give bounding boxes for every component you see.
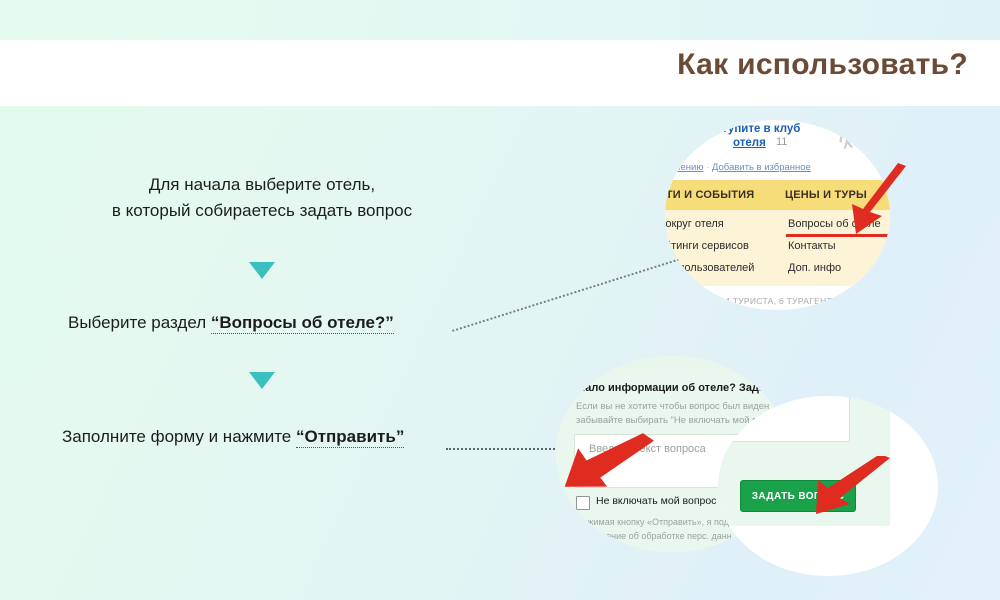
nav-item-extra-info[interactable]: Доп. инфо	[788, 262, 841, 274]
add-to-compare-link[interactable]: обавить к сравнению	[665, 162, 703, 173]
right-link-line2[interactable]: в отел	[868, 136, 890, 150]
right-link-line1[interactable]: Со	[870, 122, 885, 136]
ratings-label: оценок	[665, 294, 694, 306]
red-arrow-to-submit-icon	[800, 456, 896, 526]
nav-item-around-hotel[interactable]: Вокруг отеля	[665, 218, 724, 230]
down-triangle-icon-2	[249, 372, 275, 389]
slide-canvas: Как использовать? Для начала выберите от…	[0, 0, 1000, 600]
step-1-line-1: Для начала выберите отель,	[82, 172, 442, 198]
step-1-line-2: в который собираетесь задать вопрос	[82, 198, 442, 224]
step-3-quote: “Отправить”	[296, 427, 404, 448]
consent-line-2: соглашение об обработке перс. данн	[576, 530, 738, 544]
step-3-text: Заполните форму и нажмите “Отправить”	[62, 424, 404, 450]
step-2-text: Выберите раздел “Вопросы об отеле?”	[68, 310, 394, 336]
step-3-prefix: Заполните форму и нажмите	[62, 427, 296, 446]
form-card-title: Мало информации об отеле? Задай в	[576, 382, 782, 394]
join-club-link-line1[interactable]: тупите в клуб	[722, 122, 800, 136]
navbar-tab-news[interactable]: СТИ И СОБЫТИЯ	[665, 189, 754, 201]
submit-input-fragment[interactable]	[718, 396, 850, 442]
walking-person-icon	[833, 120, 859, 150]
form-green-heading: отелю	[562, 356, 603, 367]
step-1-text: Для начала выберите отель, в который соб…	[82, 172, 442, 223]
hotel-header-row: тупите в клуб отеля 11 Со в отел	[665, 122, 890, 158]
join-club-link-line2[interactable]: отеля	[733, 136, 766, 150]
step-2-prefix: Выберите раздел	[68, 313, 211, 332]
club-count: 11	[776, 136, 787, 148]
red-arrow-to-questions-icon	[818, 160, 910, 244]
subaction-separator: ·	[706, 162, 709, 173]
nav-item-service-ratings[interactable]: Рейтинги сервисов	[665, 240, 749, 252]
step-2-quote: “Вопросы об отеле?”	[211, 313, 394, 334]
red-arrow-to-input-icon	[548, 430, 658, 530]
down-triangle-icon-1	[249, 262, 275, 279]
nav-item-user-rating[interactable]: йтинг пользователей	[665, 262, 754, 274]
page-title: Как использовать?	[677, 48, 968, 82]
ratings-meta: 24 ТУРИСТА, 6 ТУРАГЕНТОВ	[720, 296, 845, 306]
add-to-favorites-link[interactable]: Добавить в избранное	[712, 162, 811, 173]
top-gradient-band	[0, 0, 1000, 40]
